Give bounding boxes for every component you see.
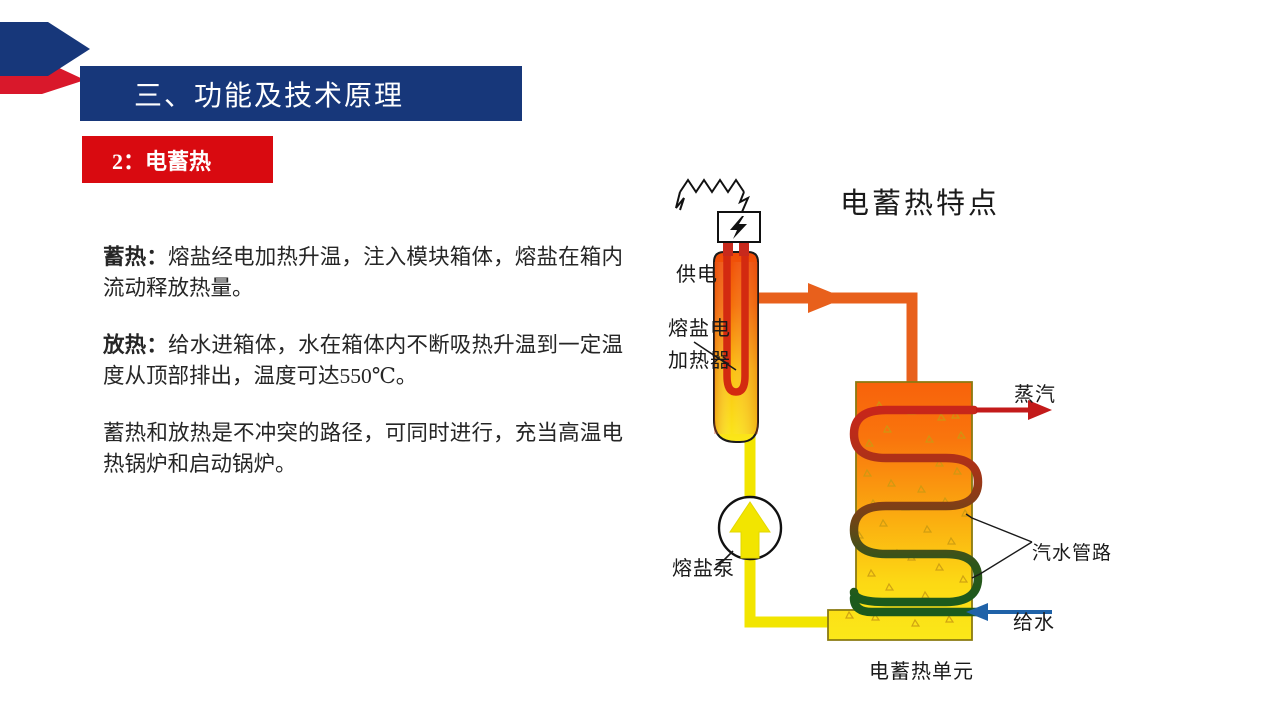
power-wire-zigzag <box>676 192 684 210</box>
paragraph-release-lead: 放热： <box>103 333 168 357</box>
paragraph-summary: 蓄热和放热是不冲突的路径，可同时进行，充当高温电热锅炉和启动锅炉。 <box>103 418 623 480</box>
body-copy: 蓄热：熔盐经电加热升温，注入模块箱体，熔盐在箱内流动释放热量。 放热：给水进箱体… <box>103 242 623 480</box>
coil-leader-line-upper <box>966 514 1032 542</box>
section-title-text: 三、功能及技术原理 <box>80 74 404 114</box>
power-wire-top-zigzag <box>680 180 744 192</box>
corner-decoration <box>0 22 90 94</box>
section-title-bar: 三、功能及技术原理 <box>80 66 522 121</box>
paragraph-summary-text: 蓄热和放热是不冲突的路径，可同时进行，充当高温电热锅炉和启动锅炉。 <box>103 421 623 476</box>
power-wire-drop-zigzag <box>740 192 748 212</box>
molten-salt-electric-heater <box>714 240 758 442</box>
label-feedwater: 给水 <box>1013 606 1055 635</box>
paragraph-storage-text: 熔盐经电加热升温，注入模块箱体，熔盐在箱内流动释放热量。 <box>103 245 623 300</box>
label-steam-water-pipe: 汽水管路 <box>1032 538 1112 565</box>
paragraph-storage-lead: 蓄热： <box>103 245 168 269</box>
thermal-storage-diagram <box>640 170 1200 690</box>
hot-flow-arrow-icon <box>790 283 845 313</box>
label-storage-unit: 电蓄热单元 <box>869 655 974 684</box>
label-pump: 熔盐泵 <box>672 552 735 581</box>
power-supply-unit <box>676 180 760 242</box>
paragraph-storage: 蓄热：熔盐经电加热升温，注入模块箱体，熔盐在箱内流动释放热量。 <box>103 242 623 304</box>
paragraph-release: 放热：给水进箱体，水在箱体内不断吸热升温到一定温度从顶部排出，温度可达550℃。 <box>103 330 623 392</box>
label-power-supply: 供电 <box>676 258 718 287</box>
label-heater-line2: 加热器 <box>668 344 731 373</box>
label-steam: 蒸汽 <box>1014 378 1056 407</box>
subsection-title-text: 2：电蓄热 <box>82 144 211 176</box>
paragraph-release-text: 给水进箱体，水在箱体内不断吸热升温到一定温度从顶部排出，温度可达550℃。 <box>103 333 623 388</box>
coil-leader-line-lower <box>972 542 1032 578</box>
subsection-title-bar: 2：电蓄热 <box>82 136 273 183</box>
molten-salt-pump[interactable] <box>719 497 781 559</box>
label-heater-line1: 熔盐电 <box>668 312 731 341</box>
